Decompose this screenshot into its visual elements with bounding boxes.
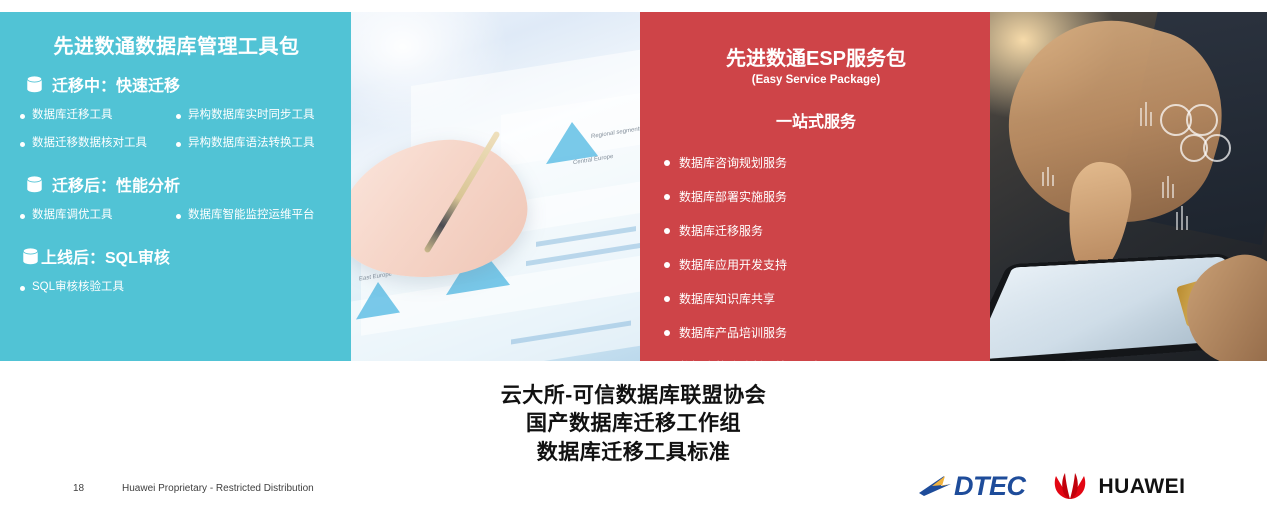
photo-hud-bar (1052, 175, 1054, 186)
list-item-label: 数据库知识库共享 (679, 293, 775, 305)
bullet-dot (176, 142, 181, 147)
bullet-dot (664, 160, 670, 166)
banner-strip: 先进数通数据库管理工具包 迁移中：快速迁移 数据库迁移工具 异构数据库实时同步工… (0, 12, 1267, 361)
photo-hud-bar (1042, 172, 1044, 186)
photo-chart-peak (356, 279, 400, 320)
bullet-dot (20, 214, 25, 219)
list-item-label: 异构数据库实时同步工具 (188, 110, 315, 122)
bullet-dot (176, 214, 181, 219)
logo-bar: DTEC HUAWEI (918, 466, 1208, 506)
list-item: 数据库调优工具 (16, 202, 176, 230)
teal-section-label: 上线后：SQL审核 (41, 244, 170, 268)
dtec-logo: DTEC (918, 473, 1026, 500)
list-item: 数据库产品培训服务 (664, 316, 814, 350)
photo-hud-bar (1145, 102, 1147, 126)
photo-hud-bar (1181, 206, 1183, 230)
page-number: 18 (73, 483, 84, 494)
photo-hand-writing-charts: Regional segments Central Europe West Eu… (351, 12, 640, 361)
photo-hud-ring (1203, 134, 1231, 162)
huawei-logo-text: HUAWEI (1099, 476, 1186, 497)
teal-panel-title: 先进数通数据库管理工具包 (16, 36, 337, 58)
list-item: 异构数据库语法转换工具 (176, 130, 336, 158)
list-item: 数据库故障诊断、处理服务 (664, 350, 978, 361)
list-item: 数据迁移数据核对工具 (16, 130, 176, 158)
huawei-logo: HUAWEI (1050, 471, 1186, 501)
photo-hud-bar (1140, 108, 1142, 126)
list-item-label: 数据库迁移工具 (32, 110, 113, 122)
database-icon (22, 247, 39, 266)
list-item: 数据库智能监控运维平台 (176, 202, 336, 230)
bullet-dot (664, 296, 670, 302)
bullet-dot (664, 228, 670, 234)
list-item-label: 数据库应用开发支持 (679, 259, 787, 271)
photo-hud-bar (1176, 212, 1178, 230)
bottom-title-line-1: 云大所-可信数据库联盟协会 (0, 382, 1267, 410)
teal-panel: 先进数通数据库管理工具包 迁移中：快速迁移 数据库迁移工具 异构数据库实时同步工… (0, 12, 351, 361)
bullet-dot (20, 286, 25, 291)
photo-hud-bar (1186, 216, 1188, 230)
dtec-logo-text: DTEC (954, 473, 1026, 500)
dtec-arrow-icon (918, 473, 952, 499)
teal-section-heading-performance: 迁移后：性能分析 (26, 172, 337, 196)
teal-bullets-migrating: 数据库迁移工具 异构数据库实时同步工具 数据迁移数据核对工具 异构数据库语法转换… (16, 102, 337, 158)
red-panel-title: 先进数通ESP服务包 (654, 48, 978, 70)
list-item-label: 异构数据库语法转换工具 (188, 138, 315, 150)
bullet-dot (20, 142, 25, 147)
database-icon (26, 175, 43, 194)
list-item: 数据库迁移服务 (664, 214, 839, 248)
list-item-label: 数据库调优工具 (32, 210, 113, 222)
photo-hud-bar (1167, 176, 1169, 198)
list-item-label: 数据迁移数据核对工具 (32, 138, 147, 150)
list-item: SQL审核核验工具 (16, 274, 337, 302)
list-item: 数据库迁移工具 (16, 102, 176, 130)
list-item: 数据库部署实施服务 (664, 180, 814, 214)
confidentiality-note: Huawei Proprietary - Restricted Distribu… (122, 483, 314, 494)
database-icon (26, 75, 43, 94)
list-item: 数据库应用开发支持 (664, 248, 814, 282)
bullet-dot (20, 114, 25, 119)
bottom-title: 云大所-可信数据库联盟协会 国产数据库迁移工作组 数据库迁移工具标准 (0, 382, 1267, 467)
red-panel-section-heading: 一站式服务 (654, 108, 978, 132)
list-item: 异构数据库实时同步工具 (176, 102, 336, 130)
list-item-label: 数据库咨询规划服务 (679, 157, 787, 169)
list-item: 数据库咨询规划服务 (664, 146, 839, 180)
teal-bullets-sqlaudit: SQL审核核验工具 (16, 274, 337, 302)
list-item-label: 数据库部署实施服务 (679, 191, 787, 203)
teal-section-label: 迁移中：快速迁移 (52, 72, 180, 96)
list-item: 数据库知识库共享 (664, 282, 839, 316)
photo-hud-bar (1162, 182, 1164, 198)
huawei-flower-icon (1050, 471, 1090, 501)
list-item-label: 数据库迁移服务 (679, 225, 763, 237)
teal-bullets-performance: 数据库调优工具 数据库智能监控运维平台 (16, 202, 337, 230)
bullet-dot (664, 330, 670, 336)
list-item-label: 数据库智能监控运维平台 (188, 210, 315, 222)
photo-hud-bar (1047, 167, 1049, 186)
teal-section-heading-migrating: 迁移中：快速迁移 (26, 72, 337, 96)
list-item-label: 数据库产品培训服务 (679, 327, 787, 339)
photo-hud-bar (1172, 184, 1174, 198)
bullet-dot (664, 194, 670, 200)
teal-section-heading-sqlaudit: 上线后：SQL审核 (22, 244, 337, 268)
bullet-dot (664, 262, 670, 268)
bottom-title-line-3: 数据库迁移工具标准 (0, 439, 1267, 467)
bottom-title-line-2: 国产数据库迁移工作组 (0, 410, 1267, 438)
red-panel-subtitle: (Easy Service Package) (654, 74, 978, 86)
photo-hand-touching-tablet (990, 12, 1267, 361)
red-panel: 先进数通ESP服务包 (Easy Service Package) 一站式服务 … (640, 12, 990, 361)
photo-hud-bar (1150, 112, 1152, 126)
bullet-dot (176, 114, 181, 119)
photo-hud-ring (1186, 104, 1218, 136)
red-panel-service-list: 数据库咨询规划服务 数据库部署实施服务 数据库迁移服务 数据库应用开发支持 数据… (654, 146, 978, 361)
teal-section-label: 迁移后：性能分析 (52, 172, 180, 196)
list-item-label: SQL审核核验工具 (32, 282, 124, 294)
